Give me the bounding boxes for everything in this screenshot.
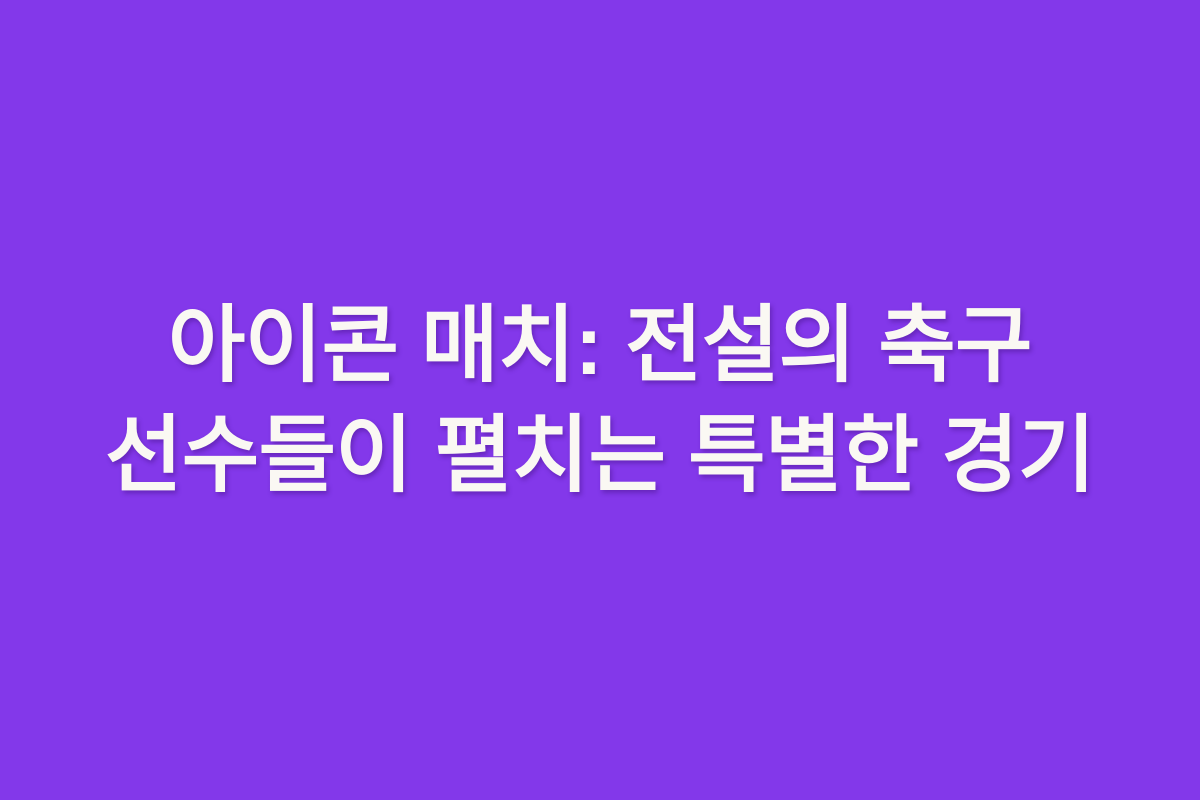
headline-line-1: 아이콘 매치: 전설의 축구 [50,290,1150,400]
headline-block: 아이콘 매치: 전설의 축구 선수들이 펼치는 특별한 경기 [30,290,1170,510]
headline-line-2: 선수들이 펼치는 특별한 경기 [50,400,1150,510]
banner-container: 아이콘 매치: 전설의 축구 선수들이 펼치는 특별한 경기 [0,0,1200,800]
